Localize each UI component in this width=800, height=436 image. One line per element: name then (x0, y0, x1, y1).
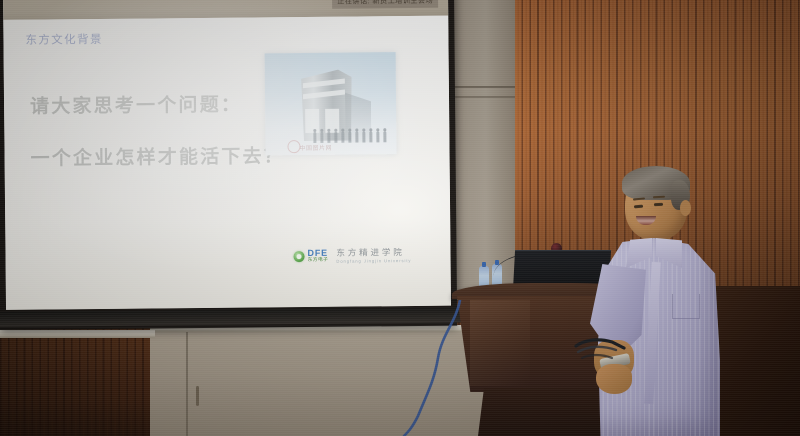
slide-footer-logo: DFE 东方电子 东方精进学院 Dongfang Jingjin Univers… (293, 248, 411, 264)
lecture-hall-scene: 正在讲话: 新员工培训主会场 东方文化背景 请大家思考一个问题： 一个企业怎样才… (0, 0, 800, 436)
slide-inset-photo: 中国图片网 (265, 52, 397, 155)
slide-title: 东方文化背景 (25, 31, 103, 48)
wall-seam-upper (450, 86, 515, 88)
lower-wall-band (150, 328, 510, 436)
slide-question-line-2: 一个企业怎样才能活下去？ (30, 141, 285, 170)
door-handle[interactable] (196, 386, 199, 406)
slide-surface[interactable]: 正在讲话: 新员工培训主会场 东方文化背景 请大家思考一个问题： 一个企业怎样才… (3, 0, 451, 310)
door-edge-line (186, 328, 188, 436)
crowd-figures (313, 126, 389, 143)
logo-institute-en: Dongfang Jingjin University (336, 259, 411, 264)
logo-institute-cn: 东方精进学院 (336, 248, 411, 257)
dfe-leaf-mark-icon (293, 251, 304, 262)
speaker-figure (596, 168, 722, 436)
logo-abbr-cn: 东方电子 (308, 259, 329, 264)
slide-question-line-1: 请大家思考一个问题： (30, 90, 242, 119)
wall-seam-lower (450, 96, 515, 98)
speaker-ear (680, 200, 691, 216)
logo-abbr: DFE (307, 249, 328, 258)
projection-screen: 正在讲话: 新员工培训主会场 东方文化背景 请大家思考一个问题： 一个企业怎样才… (0, 0, 461, 334)
photo-watermark: 中国图片网 (299, 143, 332, 152)
eyeglasses-icon (572, 336, 636, 376)
speaker-eye-right (654, 203, 663, 206)
status-banner: 正在讲话: 新员工培训主会场 (332, 0, 438, 9)
speaker-shirt-pocket (672, 294, 700, 319)
